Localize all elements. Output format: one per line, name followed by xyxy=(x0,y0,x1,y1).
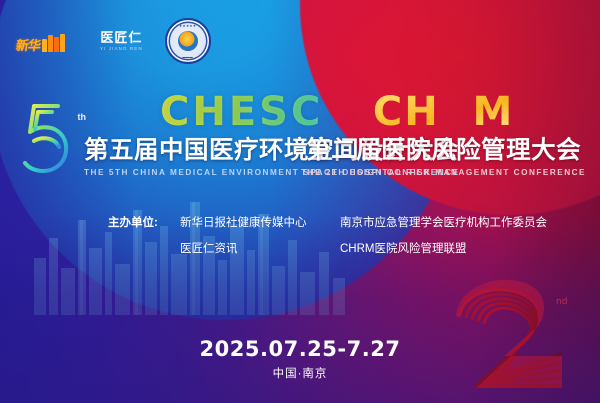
organizers-column-2: 南京市应急管理学会医疗机构工作委员会 CHRM医院风险管理联盟 xyxy=(340,210,540,262)
association-seal-logo: ★★★★★ ▬▬▬ xyxy=(165,18,211,64)
ordinal-numeral-5: th xyxy=(12,96,74,176)
xinhua-daily-logo: 新华 xyxy=(16,30,78,52)
chrm-acronym: CHRM xyxy=(301,92,586,132)
xinhua-logo-text: 新华 xyxy=(15,39,41,52)
chrm-flipped-r: R xyxy=(440,92,473,132)
seal-arc-bottom-text: ▬▬▬ xyxy=(167,55,209,59)
organizer-item: 南京市应急管理学会医疗机构工作委员会 xyxy=(340,210,540,236)
right-conference-cn-title: 第二届医院风险管理大会 xyxy=(301,138,586,164)
ribbon-suffix-text: nd xyxy=(556,297,567,307)
seal-inner-emblem xyxy=(178,31,198,51)
organizers-label: 主办单位: xyxy=(108,210,180,236)
yijiangren-logo-en: YI JIANG REN xyxy=(100,47,143,52)
event-date: 2025.07.25-7.27 xyxy=(0,337,600,361)
organizer-item: 医匠仁资讯 xyxy=(180,236,340,262)
yijiangren-logo-cn: 医匠仁 xyxy=(100,31,143,44)
yijiangren-logo: 医匠仁 YI JIANG REN xyxy=(100,31,143,52)
organizers-column-1: 新华日报社健康传媒中心 医匠仁资讯 xyxy=(180,210,340,262)
xinhua-logo-bars xyxy=(42,34,65,52)
seal-arc-top-text: ★★★★★ xyxy=(167,24,209,28)
organizer-item: CHRM医院风险管理联盟 xyxy=(340,236,540,262)
numeral-5-glyph xyxy=(12,96,74,176)
chrm-part2: M xyxy=(473,89,515,135)
event-location: 中国·南京 xyxy=(0,365,600,381)
organizers-section: 主办单位: 新华日报社健康传媒中心 医匠仁资讯 南京市应急管理学会医疗机构工作委… xyxy=(108,210,540,262)
conference-poster: nd 新华 医匠仁 YI JIANG REN ★★★★★ ▬▬▬ xyxy=(0,0,600,403)
chrm-part1: CH xyxy=(373,89,440,135)
right-conference-block: CHRM 第二届医院风险管理大会 THE 2TH HOSPITAL RISK M… xyxy=(301,92,586,177)
sponsor-logo-bar: 新华 医匠仁 YI JIANG REN ★★★★★ ▬▬▬ xyxy=(16,18,211,64)
organizer-item: 新华日报社健康传媒中心 xyxy=(180,210,340,236)
ordinal-suffix-th: th xyxy=(78,112,87,122)
event-date-block: 2025.07.25-7.27 中国·南京 xyxy=(0,337,600,381)
right-conference-en-title: THE 2TH HOSPITAL RISK MANAGEMENT CONFERE… xyxy=(301,168,586,177)
